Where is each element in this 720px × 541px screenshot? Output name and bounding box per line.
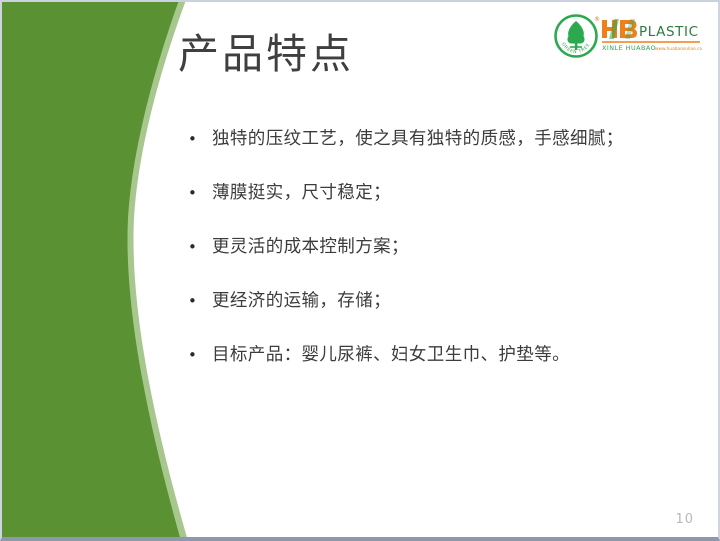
- brand-word-text: PLASTIC: [639, 24, 699, 40]
- page-number: 10: [675, 512, 694, 527]
- bullet-marker-icon: •: [186, 286, 212, 316]
- list-item: • 更灵活的成本控制方案；: [186, 232, 686, 262]
- list-item-label: 薄膜挺实，尺寸稳定；: [212, 178, 391, 208]
- list-item-label: 更经济的运输，存储；: [212, 286, 391, 316]
- company-logo: GREEN TREE ® PLASTIC XINLE HUABAO www.hu…: [554, 14, 702, 62]
- list-item-label: 独特的压纹工艺，使之具有独特的质感，手感细腻；: [212, 124, 624, 154]
- green-tree-circle-icon: GREEN TREE: [554, 14, 598, 58]
- logo-wordmark: PLASTIC XINLE HUABAO www.huabaosuliao.co…: [600, 16, 702, 60]
- page-title-block: 产品特点: [178, 30, 354, 79]
- list-item: • 更经济的运输，存储；: [186, 286, 686, 316]
- bullet-marker-icon: •: [186, 124, 212, 154]
- bullet-marker-icon: •: [186, 340, 212, 370]
- list-item: • 目标产品：婴儿尿裤、妇女卫生巾、护垫等。: [186, 340, 686, 370]
- company-name-text: XINLE HUABAO: [602, 44, 656, 52]
- bullet-marker-icon: •: [186, 232, 212, 262]
- presentation-slide: 产品特点 • 独特的压纹工艺，使之具有独特的质感，手感细腻； • 薄膜挺实，尺寸…: [0, 0, 720, 541]
- website-text: www.huabaosuliao.com: [655, 46, 702, 51]
- list-item-label: 目标产品：婴儿尿裤、妇女卫生巾、护垫等。: [212, 340, 570, 370]
- list-item: • 薄膜挺实，尺寸稳定；: [186, 178, 686, 208]
- bullet-marker-icon: •: [186, 178, 212, 208]
- list-item: • 独特的压纹工艺，使之具有独特的质感，手感细腻；: [186, 124, 686, 154]
- page-title: 产品特点: [178, 30, 354, 79]
- list-item-label: 更灵活的成本控制方案；: [212, 232, 409, 262]
- brand-mark-hb: [602, 19, 637, 39]
- bullet-list: • 独特的压纹工艺，使之具有独特的质感，手感细腻； • 薄膜挺实，尺寸稳定； •…: [186, 124, 686, 370]
